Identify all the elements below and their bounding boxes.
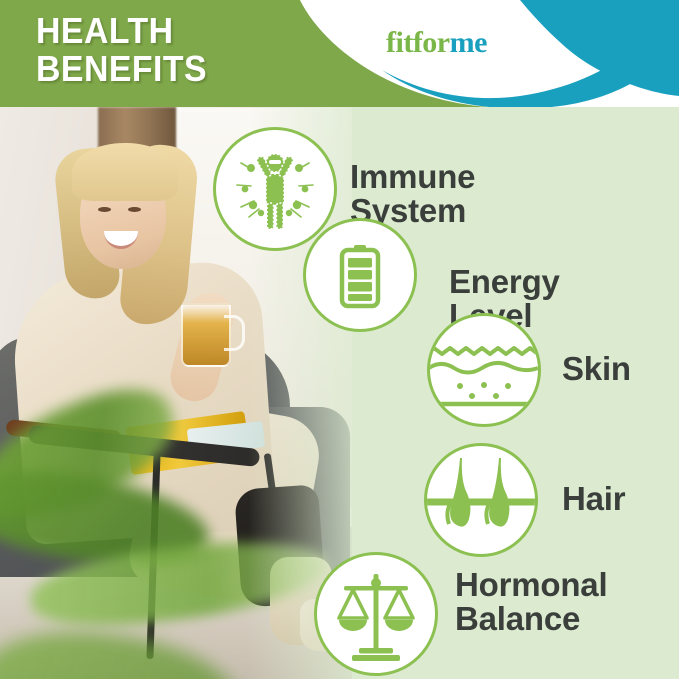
photo-mug-handle (224, 315, 245, 351)
benefit-label-hormonal-balance: Hormonal Balance (455, 568, 607, 636)
photo-hair-top (72, 143, 178, 201)
logo-text-me: me (450, 26, 487, 59)
poster-header: HEALTH BENEFITS fitforme (0, 0, 679, 107)
photo-eye-left (98, 207, 111, 212)
brand-logo: fitforme (386, 28, 487, 58)
skin-layers-icon (427, 313, 541, 427)
page-title: HEALTH BENEFITS (36, 12, 207, 88)
battery-icon (303, 218, 417, 332)
benefit-label-hair: Hair (562, 482, 625, 516)
hair-follicle-icon (424, 443, 538, 557)
logo-text-fitfor: fitfor (386, 26, 450, 59)
photo-eye-right (128, 207, 141, 212)
balance-scale-icon (314, 552, 438, 676)
benefit-label-skin: Skin (562, 352, 631, 386)
health-benefits-poster: Immune System Energy Level (0, 0, 679, 679)
